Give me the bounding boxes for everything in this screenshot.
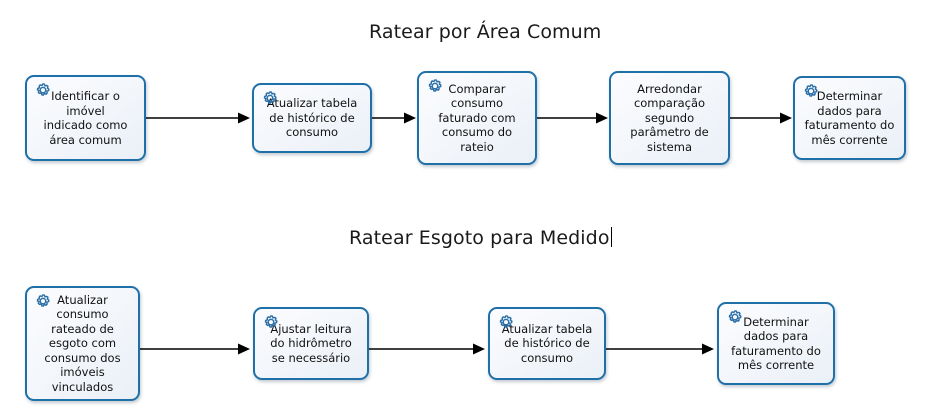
process-box-label: Determinar dados para faturamento do mês… [731,315,821,373]
connector-arrow [372,112,416,124]
connector-arrow [606,343,714,355]
section-title-2-text: Ratear Esgoto para Medido [349,227,610,249]
connector-arrow [730,112,792,124]
process-box-2-2[interactable]: Ajustar leitura do hidrômetro se necessá… [253,307,369,380]
process-box-label: Determinar dados para faturamento do mês… [805,89,895,147]
process-box-label: Atualizar consumo rateado de esgoto com … [44,293,120,395]
process-box-label: Ajustar leitura do hidrômetro se necessá… [270,322,352,366]
connector-arrow [146,112,250,124]
process-box-1-2[interactable]: Atualizar tabela de histórico de consumo [252,83,372,153]
connector-arrow [369,343,485,355]
process-box-2-1[interactable]: Atualizar consumo rateado de esgoto com … [25,286,140,401]
process-box-2-3[interactable]: Atualizar tabela de histórico de consumo [488,307,606,380]
section-title-2: Ratear Esgoto para Medido [349,227,612,249]
process-box-label: Identificar o imóvel indicado como área … [44,89,128,147]
section-title-1: Ratear por Área Comum [369,21,601,43]
process-box-1-3[interactable]: Comparar consumo faturado com consumo do… [417,71,537,165]
connector-arrow [140,343,250,355]
process-box-label: Arredondar comparação segundo parâmetro … [630,82,708,155]
section-title-1-text: Ratear por Área Comum [369,21,601,43]
process-box-label: Comparar consumo faturado com consumo do… [438,82,515,155]
text-cursor-caret [611,227,612,247]
process-box-1-4[interactable]: Arredondar comparação segundo parâmetro … [609,71,730,165]
process-box-label: Atualizar tabela de histórico de consumo [267,96,358,140]
connector-arrow [537,112,608,124]
process-box-label: Atualizar tabela de histórico de consumo [502,322,593,366]
process-box-1-1[interactable]: Identificar o imóvel indicado como área … [25,75,146,161]
process-box-1-5[interactable]: Determinar dados para faturamento do mês… [793,76,906,160]
process-box-2-4[interactable]: Determinar dados para faturamento do mês… [717,302,835,385]
flowchart-canvas: Ratear por Área Comum Identificar o imóv… [0,0,925,410]
